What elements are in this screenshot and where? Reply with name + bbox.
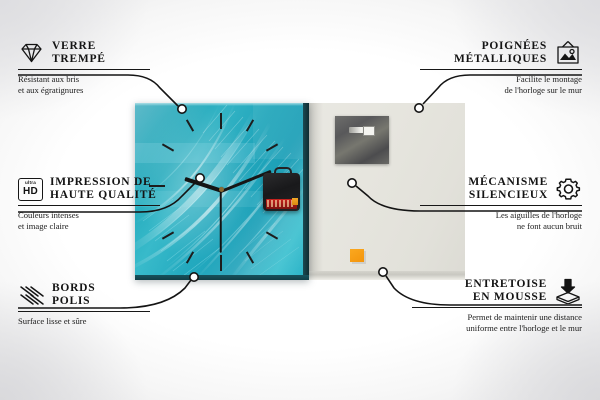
feature-title-line1: MÉCANISME <box>468 176 548 189</box>
hanger-slot-highlight <box>363 126 375 136</box>
feature-header: ultra HD IMPRESSION DE HAUTE QUALITÉ <box>18 176 178 202</box>
feature-title: BORDS POLIS <box>52 282 95 308</box>
clock-center-hub <box>219 187 224 192</box>
ultra-hd-icon: ultra HD <box>18 178 43 201</box>
feature-title-line2: MÉTALLIQUES <box>454 53 547 66</box>
feature-header: POIGNÉES MÉTALLIQUES <box>420 40 582 66</box>
feature-header: BORDS POLIS <box>18 282 168 308</box>
feature-header: VERRE TREMPÉ <box>18 40 168 66</box>
feature-header: ENTRETOISE EN MOUSSE <box>412 278 582 304</box>
metal-hanger-plate <box>335 116 389 164</box>
clock-tick <box>220 113 222 129</box>
battery-label <box>267 200 293 207</box>
feature-divider <box>18 311 150 312</box>
infographic-canvas: VERRE TREMPÉ Résistant aux bris et aux é… <box>0 0 600 400</box>
feature-description: Les aiguilles de l'horloge ne font aucun… <box>420 210 582 230</box>
clock-right-edge <box>303 103 309 280</box>
framed-picture-hook-icon <box>554 40 582 66</box>
feature-title: POIGNÉES MÉTALLIQUES <box>454 40 547 66</box>
press-down-pad-icon <box>554 278 582 304</box>
feature-title: ENTRETOISE EN MOUSSE <box>465 278 547 304</box>
feature-title-line2: POLIS <box>52 295 95 308</box>
feature-header: MÉCANISME SILENCIEUX <box>420 176 582 202</box>
feature-mecanisme-silencieux: MÉCANISME SILENCIEUX Les aiguilles de l'… <box>420 176 582 231</box>
feature-poignees-metalliques: POIGNÉES MÉTALLIQUES Facilite le montage… <box>420 40 582 95</box>
product-photo <box>135 103 465 280</box>
diamond-icon <box>18 42 45 64</box>
feature-title-line1: VERRE <box>52 40 106 53</box>
feature-title-line1: BORDS <box>52 282 95 295</box>
feature-title-line1: POIGNÉES <box>454 40 547 53</box>
feature-divider <box>420 205 582 206</box>
feature-entretoise-en-mousse: ENTRETOISE EN MOUSSE Permet de maintenir… <box>412 278 582 333</box>
feature-title-line1: IMPRESSION DE <box>50 176 157 189</box>
feature-title-line2: SILENCIEUX <box>468 189 548 202</box>
feature-title-line2: HAUTE QUALITÉ <box>50 189 157 202</box>
battery-terminal <box>292 198 298 205</box>
foam-spacer <box>350 249 364 262</box>
feature-divider <box>420 69 582 70</box>
clock-bottom-edge <box>135 275 309 280</box>
clock-top-edge <box>135 103 309 106</box>
feature-bords-polis: BORDS POLIS Surface lisse et sûre <box>18 282 168 327</box>
ultra-hd-icon-main-label: HD <box>23 187 38 197</box>
feature-title-line1: ENTRETOISE <box>465 278 547 291</box>
feature-title-line2: TREMPÉ <box>52 53 106 66</box>
clock-tick <box>220 255 222 271</box>
feature-title: MÉCANISME SILENCIEUX <box>468 176 548 202</box>
feature-verre-trempe: VERRE TREMPÉ Résistant aux bris et aux é… <box>18 40 168 95</box>
feature-description: Surface lisse et sûre <box>18 316 168 326</box>
feature-impression-haute-qualite: ultra HD IMPRESSION DE HAUTE QUALITÉ Cou… <box>18 176 178 231</box>
feature-title: IMPRESSION DE HAUTE QUALITÉ <box>50 176 157 202</box>
clock-second-hand <box>220 191 222 253</box>
wall-panel-shadow <box>307 103 323 280</box>
feature-title: VERRE TREMPÉ <box>52 40 106 66</box>
polished-edges-icon <box>18 285 45 306</box>
feature-description: Couleurs intenses et image claire <box>18 210 178 230</box>
feature-description: Permet de maintenir une distance uniform… <box>412 312 582 332</box>
feature-title-line2: EN MOUSSE <box>465 291 547 304</box>
gear-icon <box>555 176 582 202</box>
feature-divider <box>18 69 150 70</box>
feature-description: Résistant aux bris et aux égratignures <box>18 74 168 94</box>
feature-divider <box>18 205 160 206</box>
feature-divider <box>412 307 582 308</box>
feature-description: Facilite le montage de l'horloge sur le … <box>420 74 582 94</box>
